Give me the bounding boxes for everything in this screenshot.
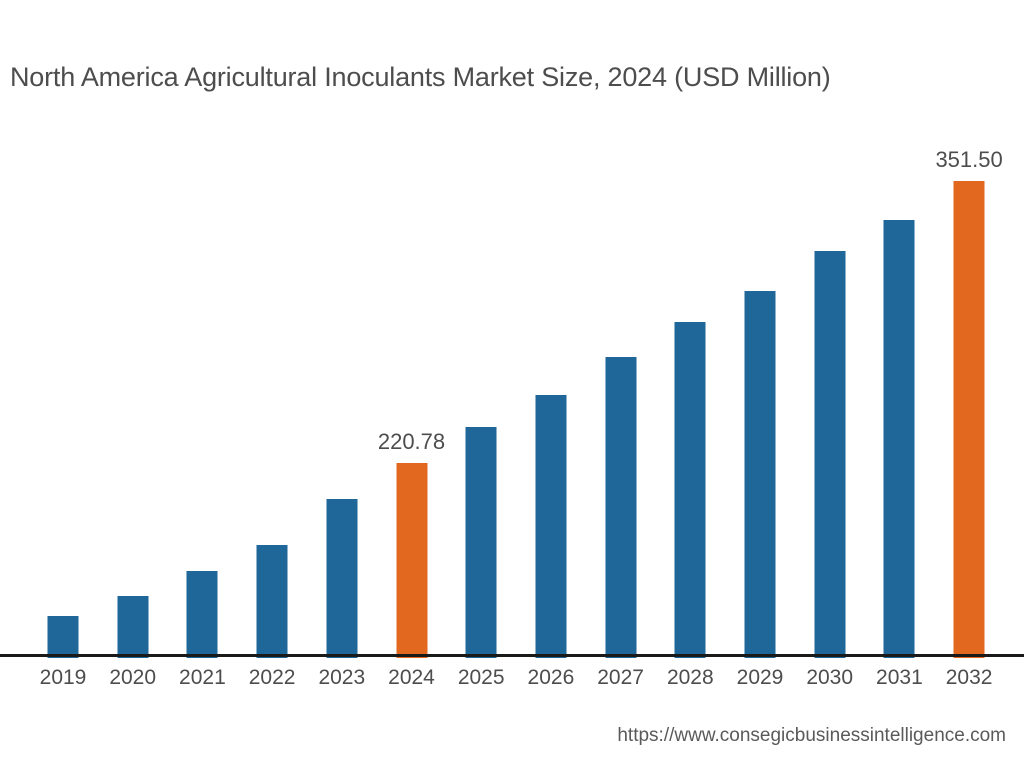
axis-label-2028: 2028	[667, 663, 714, 693]
bar-slot-2024: 220.78	[382, 110, 442, 658]
bar-value-label-2024: 220.78	[378, 430, 445, 454]
bar-slot-2021	[172, 110, 232, 658]
bar-slot-2019	[33, 110, 93, 658]
axis-label-2019: 2019	[40, 663, 87, 693]
axis-label-2029: 2029	[737, 663, 784, 693]
bar-slot-2029	[730, 110, 790, 658]
bar-slot-2028	[660, 110, 720, 658]
axis-label-2023: 2023	[318, 663, 365, 693]
bar-2024[interactable]	[396, 463, 427, 658]
axis-label-2021: 2021	[179, 663, 226, 693]
bar-slot-2030	[800, 110, 860, 658]
axis-label-2031: 2031	[876, 663, 923, 693]
bar-2021[interactable]	[187, 571, 218, 658]
axis-label-2022: 2022	[249, 663, 296, 693]
chart-title: North America Agricultural Inoculants Ma…	[10, 58, 1020, 96]
source-url-text: https://www.consegicbusinessintelligence…	[617, 724, 1006, 748]
bar-2028[interactable]	[675, 322, 706, 658]
bar-2020[interactable]	[117, 596, 148, 658]
axis-label-2027: 2027	[597, 663, 644, 693]
axis-label-2026: 2026	[528, 663, 575, 693]
bar-slot-2026	[521, 110, 581, 658]
bar-slot-2027	[591, 110, 651, 658]
axis-label-2025: 2025	[458, 663, 505, 693]
bar-2019[interactable]	[48, 616, 79, 658]
plot-area: 220.78351.50	[0, 110, 1024, 658]
bar-2025[interactable]	[466, 427, 497, 658]
bar-slot-2032: 351.50	[939, 110, 999, 658]
chart-container: North America Agricultural Inoculants Ma…	[0, 0, 1024, 768]
bar-2026[interactable]	[535, 395, 566, 658]
bar-slot-2025	[451, 110, 511, 658]
axis-label-2030: 2030	[806, 663, 853, 693]
x-axis-tick-labels: 2019202020212022202320242025202620272028…	[0, 663, 1024, 697]
axis-label-2024: 2024	[388, 663, 435, 693]
bar-slot-2022	[242, 110, 302, 658]
bar-slot-2023	[312, 110, 372, 658]
axis-label-2032: 2032	[946, 663, 993, 693]
bar-slot-2020	[103, 110, 163, 658]
bar-value-label-2032: 351.50	[935, 148, 1002, 172]
bar-2022[interactable]	[257, 545, 288, 658]
axis-label-2020: 2020	[109, 663, 156, 693]
bar-2023[interactable]	[326, 499, 357, 658]
bar-slot-2031	[869, 110, 929, 658]
bar-2029[interactable]	[745, 291, 776, 658]
x-axis-line	[0, 654, 1024, 657]
bar-2031[interactable]	[884, 220, 915, 658]
bar-2032[interactable]	[954, 181, 985, 658]
bar-2030[interactable]	[814, 251, 845, 658]
bar-2027[interactable]	[605, 357, 636, 658]
